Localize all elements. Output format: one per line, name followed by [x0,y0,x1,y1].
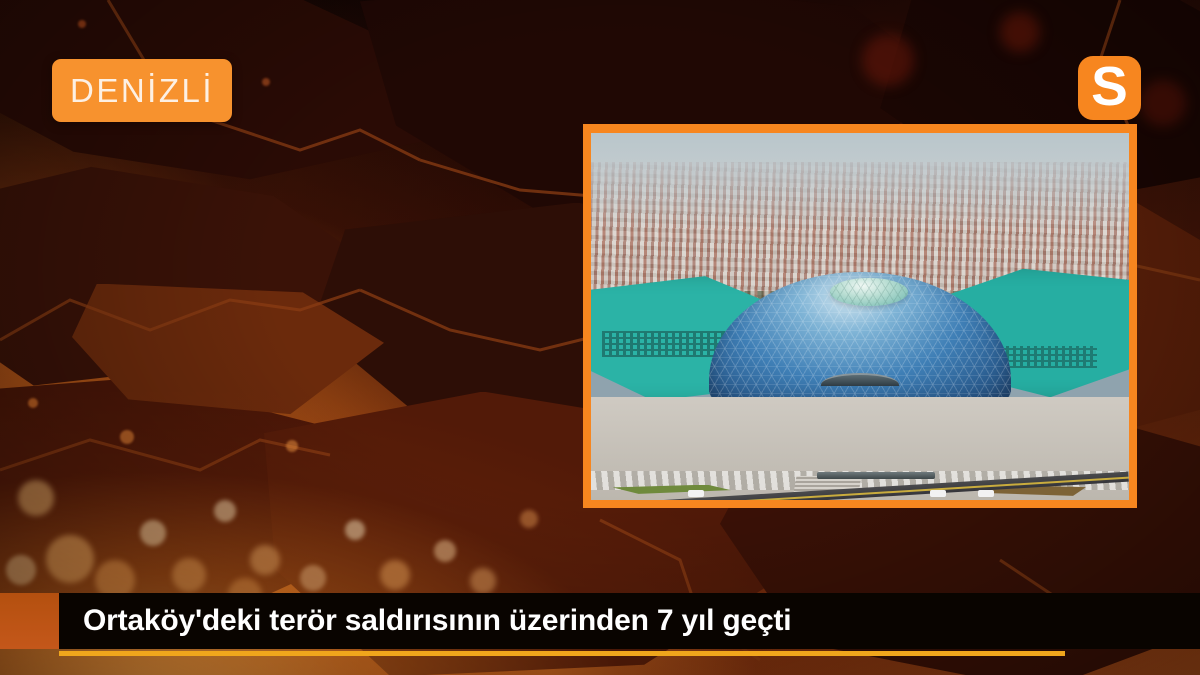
headline-accent-block [0,593,59,649]
page-title: Ortaköy'deki terör saldırısının üzerinde… [59,604,791,638]
s-logo-icon[interactable]: S [1078,56,1141,120]
city-badge-label: DENİZLİ [70,74,214,107]
headline-bar: Ortaköy'deki terör saldırısının üzerinde… [59,593,1200,649]
photo-haze [591,162,1129,228]
photo-car [930,490,946,497]
news-card: DENİZLİ S [0,0,1200,675]
photo-car [688,490,704,497]
plaza-pavilion [817,472,935,479]
photo-plaza [591,397,1129,500]
article-photo-frame [583,124,1137,508]
article-photo [591,133,1129,500]
dome-cupola [830,278,908,306]
city-badge: DENİZLİ [52,59,232,122]
photo-car [978,490,994,497]
logo-letter: S [1091,59,1128,114]
headline-underline [59,651,1065,656]
cupola-mesh-pattern [830,278,908,306]
